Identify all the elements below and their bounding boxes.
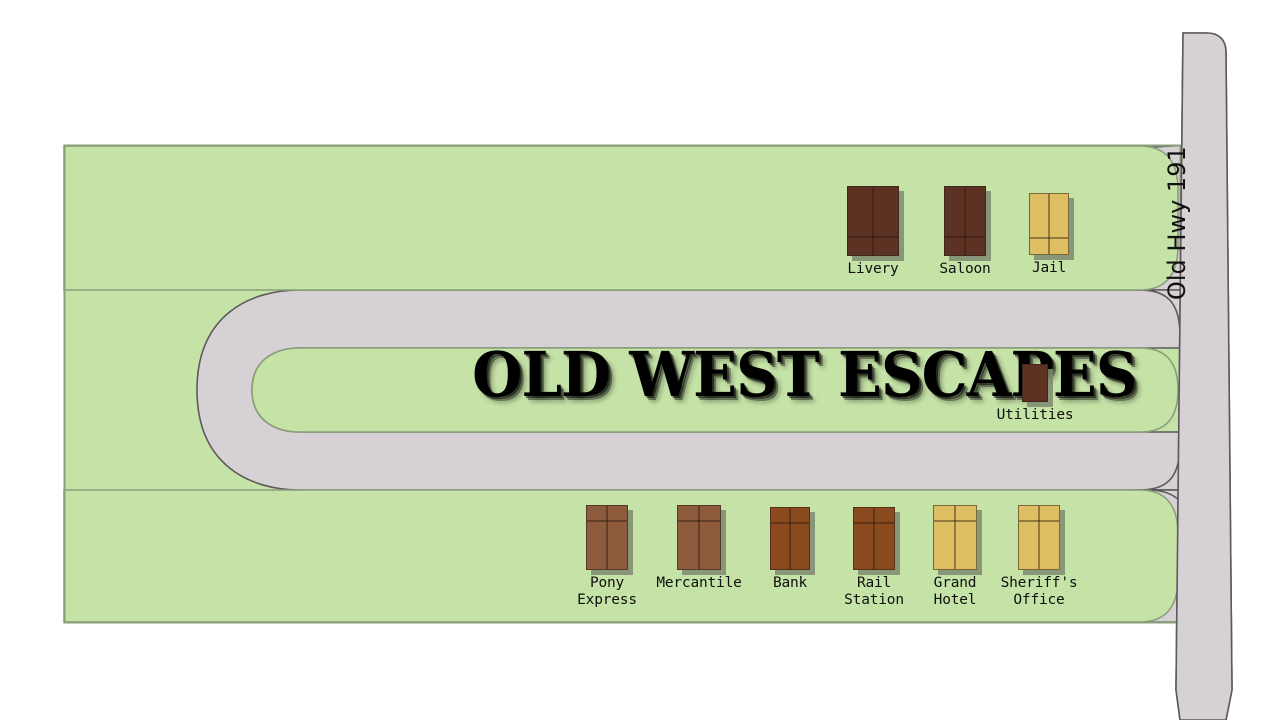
map-title: OLD WEST ESCAPES bbox=[472, 340, 928, 410]
building-vertical-divider bbox=[1038, 506, 1040, 569]
building-rail-station[interactable] bbox=[853, 507, 895, 570]
building-sheriff-s-office[interactable] bbox=[1018, 505, 1060, 570]
building-footprint bbox=[770, 507, 810, 570]
building-horizontal-divider bbox=[854, 522, 894, 524]
building-footprint bbox=[944, 186, 986, 256]
building-label-jail: Jail bbox=[964, 260, 1134, 277]
building-vertical-divider bbox=[789, 508, 791, 569]
building-label-sheriff-s-office: Sheriff's Office bbox=[954, 575, 1124, 609]
highway-label-old-hwy-191: Old Hwy 191 bbox=[1163, 100, 1191, 300]
building-horizontal-divider bbox=[945, 236, 985, 238]
building-horizontal-divider bbox=[1019, 520, 1059, 522]
building-footprint bbox=[847, 186, 899, 256]
building-vertical-divider bbox=[954, 506, 956, 569]
building-horizontal-divider bbox=[848, 236, 898, 238]
building-footprint bbox=[1022, 364, 1048, 402]
building-horizontal-divider bbox=[1030, 237, 1068, 239]
building-vertical-divider bbox=[873, 508, 875, 569]
building-vertical-divider bbox=[606, 506, 608, 569]
building-horizontal-divider bbox=[678, 520, 720, 522]
building-footprint bbox=[853, 507, 895, 570]
building-grand-hotel[interactable] bbox=[933, 505, 977, 570]
building-footprint bbox=[586, 505, 628, 570]
building-label-utilities: Utilities bbox=[950, 407, 1120, 424]
building-horizontal-divider bbox=[934, 520, 976, 522]
building-jail[interactable] bbox=[1029, 193, 1069, 255]
building-footprint bbox=[677, 505, 721, 570]
building-vertical-divider bbox=[872, 187, 874, 255]
building-footprint bbox=[933, 505, 977, 570]
building-vertical-divider bbox=[964, 187, 966, 255]
building-utilities[interactable] bbox=[1022, 364, 1048, 402]
building-horizontal-divider bbox=[771, 522, 809, 524]
building-vertical-divider bbox=[1048, 194, 1050, 254]
building-livery[interactable] bbox=[847, 186, 899, 256]
building-mercantile[interactable] bbox=[677, 505, 721, 570]
building-footprint bbox=[1018, 505, 1060, 570]
building-footprint bbox=[1029, 193, 1069, 255]
building-horizontal-divider bbox=[587, 520, 627, 522]
building-vertical-divider bbox=[698, 506, 700, 569]
building-bank[interactable] bbox=[770, 507, 810, 570]
site-map: OLD WEST ESCAPES Old Hwy 191 LiverySaloo… bbox=[0, 0, 1280, 720]
building-pony-express[interactable] bbox=[586, 505, 628, 570]
building-saloon[interactable] bbox=[944, 186, 986, 256]
